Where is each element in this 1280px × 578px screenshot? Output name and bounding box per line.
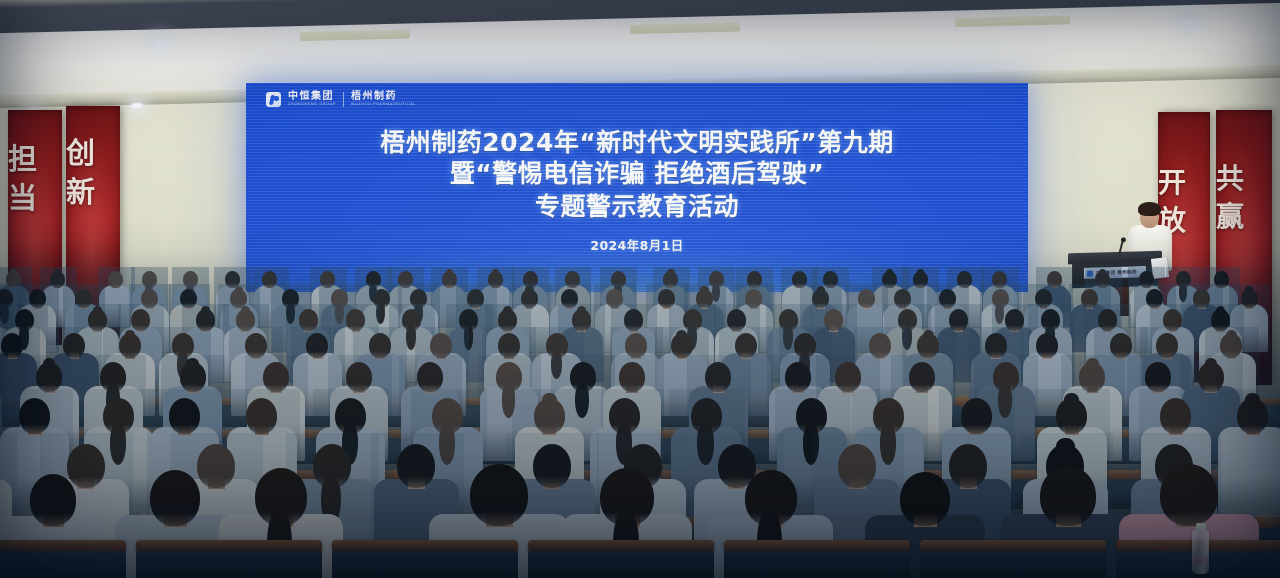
conference-hall-photo: 担当 创新 开放 共赢 中恒集团 ZHONGHENG GROUP 梧州制药 WU… bbox=[0, 0, 1280, 578]
audience-hair-bun bbox=[446, 269, 453, 276]
audience-head bbox=[823, 271, 838, 288]
audience-head bbox=[30, 474, 76, 526]
audience-head bbox=[246, 398, 277, 434]
audience-head bbox=[397, 444, 435, 488]
audience-head bbox=[245, 333, 267, 358]
foreground-seat-back bbox=[0, 551, 126, 578]
audience-head bbox=[1110, 333, 1132, 358]
audience-head bbox=[1005, 309, 1024, 331]
audience-head bbox=[1047, 271, 1062, 288]
audience-hair-bun bbox=[817, 286, 825, 294]
audience-ponytail bbox=[803, 423, 819, 464]
audience-hair-bun bbox=[235, 286, 243, 294]
audience-head bbox=[949, 444, 987, 488]
audience-hair-bun bbox=[503, 306, 512, 315]
foreground-seat-back bbox=[332, 551, 518, 578]
audience-head bbox=[625, 333, 647, 358]
audience-head bbox=[624, 309, 643, 331]
audience-head bbox=[1, 333, 23, 358]
audience-head bbox=[1081, 289, 1098, 308]
audience-head bbox=[824, 309, 843, 331]
audience-head bbox=[705, 362, 731, 392]
audience-hair-bun bbox=[1245, 286, 1253, 294]
foreground-seat-back bbox=[724, 551, 910, 578]
audience-ponytail bbox=[902, 324, 912, 349]
audience-head bbox=[957, 271, 972, 288]
audience-hair-bun bbox=[1216, 306, 1225, 315]
audience-hair-bun bbox=[186, 358, 198, 370]
audience-head bbox=[131, 309, 150, 331]
audience-head bbox=[141, 289, 158, 308]
foreground-seat-back bbox=[920, 551, 1106, 578]
audience-head bbox=[470, 464, 528, 526]
audience-ponytail bbox=[880, 423, 896, 464]
audience-head bbox=[1214, 271, 1229, 288]
audience-head bbox=[838, 444, 876, 488]
audience-head bbox=[1163, 309, 1182, 331]
audience-hair-bun bbox=[201, 306, 210, 315]
audience-head bbox=[63, 333, 85, 358]
audience-hair-bun bbox=[1205, 358, 1217, 370]
audience-hair-bun bbox=[525, 286, 533, 294]
audience-head bbox=[1035, 289, 1052, 308]
audience-hair-bun bbox=[1056, 438, 1074, 456]
audience-head bbox=[606, 289, 623, 308]
foreground-seat-back bbox=[136, 551, 322, 578]
audience-head bbox=[900, 472, 950, 526]
audience-head bbox=[346, 309, 365, 331]
audience-head bbox=[747, 271, 762, 288]
audience-head bbox=[1193, 289, 1210, 308]
audience-head bbox=[67, 444, 105, 488]
audience-head bbox=[1156, 333, 1178, 358]
audience-hair-bun bbox=[542, 393, 557, 407]
audience-head bbox=[498, 333, 520, 358]
audience-head bbox=[985, 333, 1007, 358]
audience-head bbox=[619, 362, 645, 392]
audience-head bbox=[430, 333, 452, 358]
audience-torso bbox=[1218, 427, 1280, 517]
audience-head bbox=[369, 333, 391, 358]
audience-ponytail bbox=[551, 351, 562, 380]
audience-head bbox=[320, 271, 335, 288]
audience-ponytail bbox=[464, 324, 474, 349]
water-bottle bbox=[1192, 530, 1209, 574]
audience-hair-bun bbox=[93, 306, 102, 315]
audience-head bbox=[1040, 466, 1096, 526]
audience-head bbox=[29, 289, 46, 308]
audience-head bbox=[262, 271, 277, 288]
audience-head bbox=[306, 333, 328, 358]
audience-head bbox=[1146, 289, 1163, 308]
audience-ponytail bbox=[0, 302, 9, 324]
audience-ponytail bbox=[110, 423, 126, 464]
audience-head bbox=[19, 398, 50, 434]
audience-head bbox=[1160, 398, 1191, 434]
audience-ponytail bbox=[406, 324, 416, 349]
audience-head bbox=[299, 309, 318, 331]
audience-ponytail bbox=[575, 383, 589, 418]
audience-head bbox=[263, 362, 289, 392]
audience-head bbox=[398, 271, 413, 288]
audience-hair-bun bbox=[1086, 358, 1098, 370]
audience-head bbox=[961, 398, 992, 434]
audience-head bbox=[533, 444, 571, 488]
audience-ponytail bbox=[998, 383, 1012, 418]
audience-head bbox=[467, 289, 484, 308]
audience-hair-bun bbox=[1245, 393, 1260, 407]
audience-head bbox=[180, 289, 197, 308]
audience-head bbox=[939, 289, 956, 308]
audience-head bbox=[75, 289, 92, 308]
audience-hair-bun bbox=[667, 269, 674, 276]
audience-head bbox=[658, 289, 675, 308]
audience-head bbox=[197, 444, 235, 488]
audience-head bbox=[1145, 362, 1171, 392]
audience-ponytail bbox=[502, 383, 516, 418]
audience-head bbox=[949, 309, 968, 331]
audience-head bbox=[745, 289, 762, 308]
audience-ponytail bbox=[335, 302, 344, 324]
audience-ponytail bbox=[697, 423, 713, 464]
audience-hair-bun bbox=[676, 330, 687, 340]
audience-head bbox=[727, 309, 746, 331]
foreground-seat-back bbox=[528, 551, 714, 578]
audience-head bbox=[417, 362, 443, 392]
audience bbox=[0, 0, 1280, 578]
audience-head bbox=[1139, 271, 1154, 288]
audience-head bbox=[835, 362, 861, 392]
audience-hair-bun bbox=[577, 306, 586, 315]
audience-head bbox=[1160, 464, 1218, 526]
audience-hair-bun bbox=[923, 330, 934, 340]
audience-ponytail bbox=[783, 324, 793, 349]
audience-head bbox=[1098, 309, 1117, 331]
audience-hair-bun bbox=[241, 306, 250, 315]
audience-head bbox=[561, 289, 578, 308]
audience-head bbox=[735, 333, 757, 358]
audience-head bbox=[785, 362, 811, 392]
audience-head bbox=[108, 271, 123, 288]
audience-hair-bun bbox=[1226, 330, 1237, 340]
audience-hair-bun bbox=[125, 330, 136, 340]
audience-head bbox=[894, 289, 911, 308]
audience-ponytail bbox=[439, 423, 455, 464]
audience-hair-bun bbox=[700, 286, 708, 294]
audience-head bbox=[869, 333, 891, 358]
audience-head bbox=[792, 271, 807, 288]
audience-head bbox=[1036, 333, 1058, 358]
audience-head bbox=[909, 362, 935, 392]
audience-head bbox=[858, 289, 875, 308]
audience-head bbox=[150, 470, 200, 526]
audience-head bbox=[565, 271, 580, 288]
audience-head bbox=[346, 362, 372, 392]
audience-head bbox=[169, 398, 200, 434]
